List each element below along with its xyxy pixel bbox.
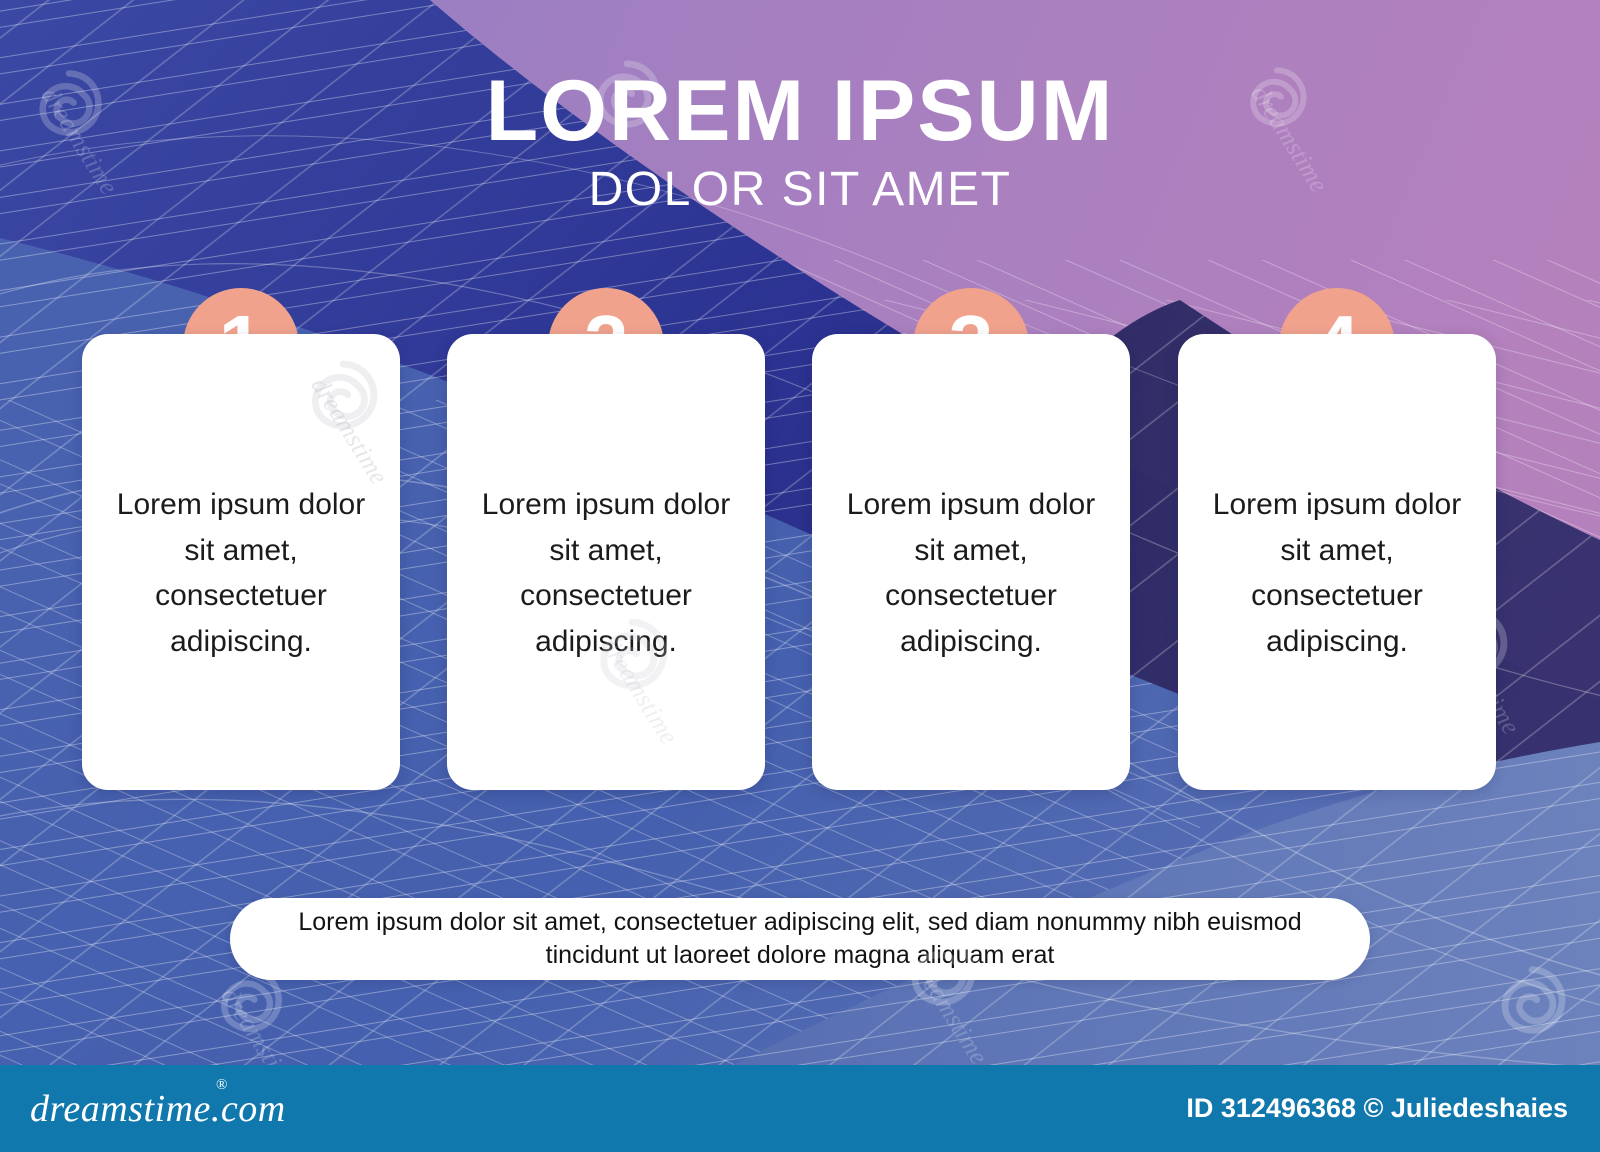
step-number-badge-4: 4 <box>1279 288 1395 404</box>
footer-caption-pill: Lorem ipsum dolor sit amet, consectetuer… <box>230 898 1370 980</box>
step-card-4[interactable]: 4 Lorem ipsum dolor sit amet, consectetu… <box>1178 334 1496 790</box>
dreamstime-logo[interactable]: dreamstime.com ® <box>30 1087 286 1131</box>
step-card-text-2: Lorem ipsum dolor sit amet, consectetuer… <box>469 482 743 664</box>
image-credit: ID 312496368 © Juliedeshaies <box>1186 1093 1568 1124</box>
step-card-3[interactable]: 3 Lorem ipsum dolor sit amet, consectetu… <box>812 334 1130 790</box>
step-card-1[interactable]: 1 Lorem ipsum dolor sit amet, consectetu… <box>82 334 400 790</box>
step-number-badge-2: 2 <box>548 288 664 404</box>
infographic-canvas: dreamstime dreamstime dreamstime dreamst… <box>0 0 1600 1152</box>
stock-footer-bar: dreamstime.com ® ID 312496368 © Juliedes… <box>0 1065 1600 1152</box>
step-number-2: 2 <box>584 304 629 384</box>
step-number-badge-3: 3 <box>913 288 1029 404</box>
steps-card-group: 1 Lorem ipsum dolor sit amet, consectetu… <box>82 334 1496 790</box>
step-card-2[interactable]: 2 Lorem ipsum dolor sit amet, consectetu… <box>447 334 765 790</box>
dreamstime-logo-text: dreamstime.com <box>30 1088 286 1130</box>
step-number-4: 4 <box>1315 304 1360 384</box>
step-card-text-1: Lorem ipsum dolor sit amet, consectetuer… <box>104 482 378 664</box>
step-card-text-3: Lorem ipsum dolor sit amet, consectetuer… <box>834 482 1108 664</box>
step-number-1: 1 <box>219 304 264 384</box>
footer-caption-text: Lorem ipsum dolor sit amet, consectetuer… <box>230 906 1370 972</box>
registered-mark-icon: ® <box>216 1077 228 1094</box>
step-number-badge-1: 1 <box>183 288 299 404</box>
step-number-3: 3 <box>949 304 994 384</box>
step-card-text-4: Lorem ipsum dolor sit amet, consectetuer… <box>1200 482 1474 664</box>
